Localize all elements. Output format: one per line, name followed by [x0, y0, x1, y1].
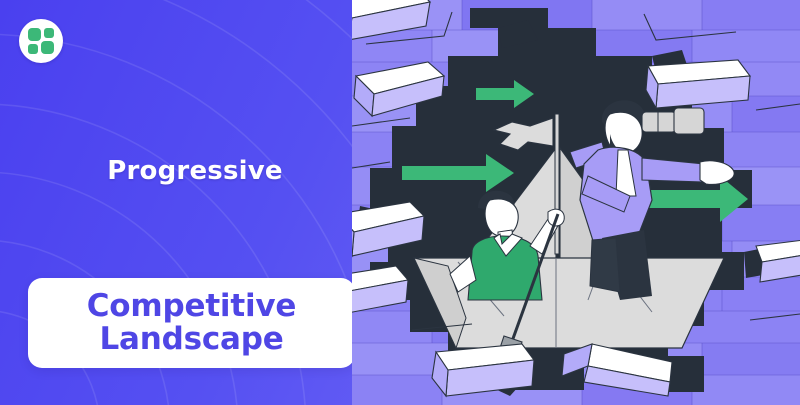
logo-tile-bottom-right — [41, 41, 54, 54]
title-card: Competitive Landscape — [28, 278, 355, 368]
mast — [555, 114, 559, 254]
flying-brick-top-right — [646, 60, 750, 108]
logo-tile-bottom-left — [28, 44, 38, 54]
title-line-2: Landscape — [87, 323, 297, 356]
banner-root: Progressive Competitive Landscape — [0, 0, 800, 405]
lookout-leg-back — [590, 238, 620, 292]
rower-face — [485, 199, 518, 236]
logo-tile-top-left — [28, 28, 41, 41]
eyebrow-text: Progressive — [0, 156, 390, 186]
illustration-paper-boat-breaking-wall — [352, 0, 800, 405]
brand-logo[interactable] — [19, 19, 63, 63]
page-title: Competitive Landscape — [87, 290, 297, 357]
binoculars-icon — [642, 108, 704, 134]
logo-tile-top-right — [44, 28, 54, 38]
logo-tile-grid-icon — [28, 28, 54, 54]
flying-brick-right — [756, 240, 800, 282]
title-line-1: Competitive — [87, 290, 297, 323]
